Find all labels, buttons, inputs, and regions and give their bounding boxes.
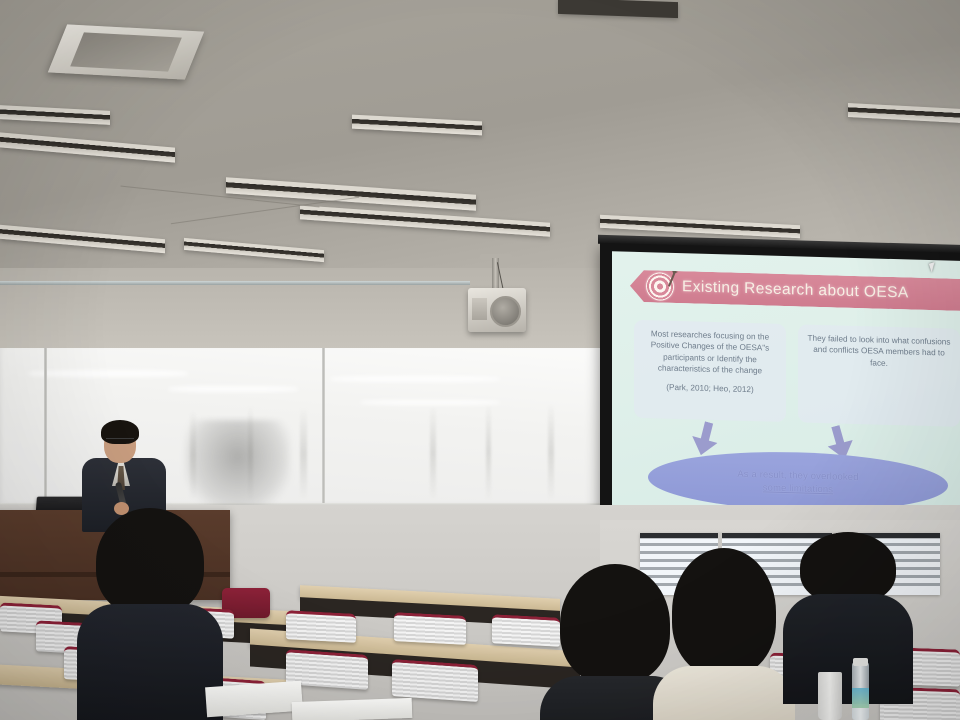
slide-text-box: They failed to look into what confusions… xyxy=(798,324,960,427)
chair xyxy=(492,614,560,644)
ceiling-vent-strip xyxy=(0,132,175,162)
target-icon xyxy=(646,272,674,301)
ceiling-vent-strip xyxy=(0,225,165,253)
arrow-icon xyxy=(668,271,675,286)
slide-title-banner: Existing Research about OESA xyxy=(630,270,960,311)
presenter-shadow xyxy=(185,420,290,512)
handout-papers xyxy=(292,698,413,720)
projector-lens-icon xyxy=(490,296,521,327)
slide-box-citation: (Park, 2010; Heo, 2012) xyxy=(640,381,780,396)
mouse-pointer-icon xyxy=(929,261,941,272)
chair xyxy=(394,612,466,642)
attendee-front-left xyxy=(96,508,204,720)
ceiling-vent-strip xyxy=(226,177,476,210)
slide-title: Existing Research about OESA xyxy=(682,278,909,302)
projection-screen: Existing Research about OESA Most resear… xyxy=(600,243,960,545)
bottle-cap xyxy=(853,658,868,666)
wall-rail xyxy=(0,281,470,285)
ceiling-vent-strip xyxy=(0,105,110,125)
ceiling-panel xyxy=(558,0,678,18)
ceiling-vent-strip xyxy=(300,205,550,236)
projector xyxy=(466,258,528,336)
ceiling-vent-strip xyxy=(352,115,482,136)
ceiling-light-fixture xyxy=(48,24,204,79)
conclusion-line-2: some limitations xyxy=(763,480,833,495)
attendee-right xyxy=(800,532,896,692)
slide-text-box: Most researches focusing on the Positive… xyxy=(634,320,786,422)
bottle-label xyxy=(852,688,869,708)
ceiling-vent-strip xyxy=(848,103,960,123)
lecture-hall-photo: Existing Research about OESA Most resear… xyxy=(0,0,960,720)
chair xyxy=(286,610,356,640)
ceiling-vent-strip xyxy=(184,238,324,262)
slide: Existing Research about OESA Most resear… xyxy=(612,251,960,533)
down-arrow-icon xyxy=(688,419,721,459)
attendee-center-right xyxy=(672,548,776,720)
glasses-icon xyxy=(106,438,134,444)
chair xyxy=(392,659,478,699)
slide-box-text: Most researches focusing on the Positive… xyxy=(651,329,770,375)
slide-box-text: They failed to look into what confusions… xyxy=(808,334,951,368)
paper-cup xyxy=(818,672,842,720)
